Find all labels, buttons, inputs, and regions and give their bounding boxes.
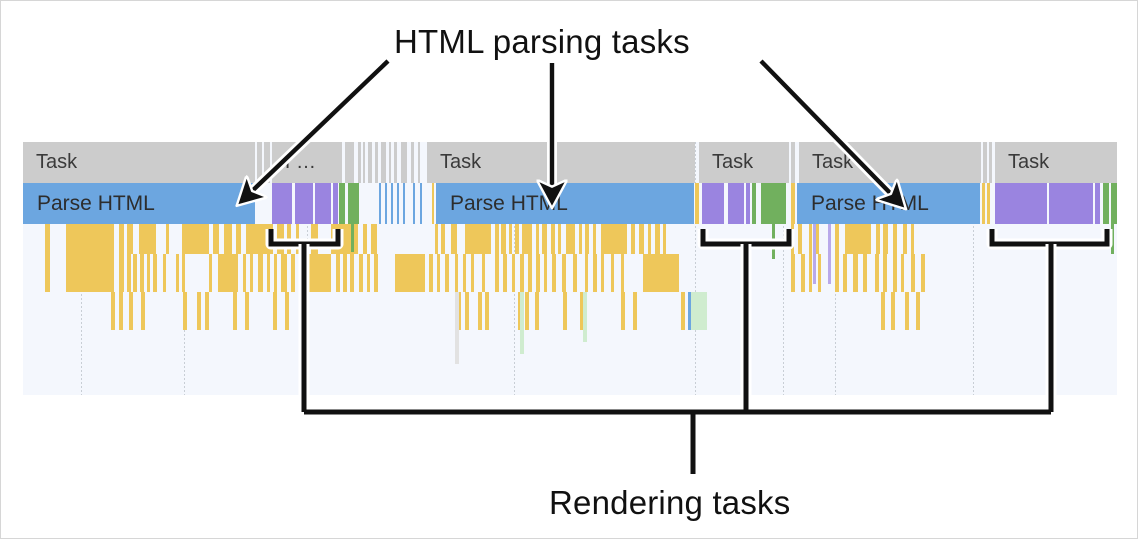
parse-html-3-label: Parse HTML (797, 192, 929, 216)
rendering-cluster-1c[interactable] (315, 183, 331, 224)
script-lane-2-bar-14[interactable] (250, 254, 253, 292)
script-lane-3-bar-24[interactable] (881, 292, 885, 330)
script-lane-1-bar-24[interactable] (509, 224, 512, 254)
script-lane-2-bar-55[interactable] (835, 254, 839, 292)
task-5[interactable]: Task (799, 142, 981, 183)
parse-html-row[interactable]: Parse HTMLParse HTMLParse HTML (23, 183, 1117, 224)
script-lane-3-bar-25[interactable] (891, 292, 895, 330)
script-tick-1[interactable] (432, 183, 434, 224)
rendering-cluster-1b[interactable] (295, 183, 313, 224)
script-lane-2-bar-12[interactable] (218, 254, 238, 292)
task-gap-d[interactable] (358, 142, 361, 183)
task-gap-i[interactable] (389, 142, 391, 183)
script-lane-1-bar-35[interactable] (601, 224, 627, 254)
script-lane-2-bar-48[interactable] (611, 254, 614, 292)
paint-sliver-a (520, 292, 524, 354)
script-lane-2-bar-41[interactable] (544, 254, 547, 292)
script-lane-1-bar-38[interactable] (648, 224, 651, 254)
script-lane-1-bar-10[interactable] (246, 224, 273, 254)
task-gap-e[interactable] (363, 142, 365, 183)
script-lane-3-bar-14[interactable] (485, 292, 489, 330)
script-lane-2-bar-42[interactable] (552, 254, 556, 292)
script-lane-3-bar-10[interactable] (285, 292, 289, 330)
script-lane-3-bar-26[interactable] (905, 292, 909, 330)
task-3-label: Task (427, 151, 481, 174)
script-lane-2-bar-21[interactable] (336, 254, 340, 292)
script-lane-1-bar-19[interactable] (441, 224, 445, 254)
script-lane-2-bar-58[interactable] (863, 254, 867, 292)
script-lane-2-bar-51[interactable] (791, 254, 795, 292)
performance-timeline-panel[interactable]: TaskΓ…TaskTaskTaskTask Parse HTMLParse H… (23, 142, 1117, 395)
script-lane-1-bar-3[interactable] (127, 224, 133, 254)
script-lane-1[interactable] (23, 224, 1117, 254)
painting-cluster-1a[interactable] (339, 183, 345, 224)
script-lane-2-bar-32[interactable] (463, 254, 466, 292)
idle-blue-3[interactable] (391, 183, 393, 224)
script-lane-2-bar-40[interactable] (536, 254, 540, 292)
script-lane-2-bar-25[interactable] (367, 254, 370, 292)
script-lane-2-bar-6[interactable] (147, 254, 150, 292)
script-lane-3-bar-1[interactable] (119, 292, 123, 330)
script-lane-1-bar-34[interactable] (593, 224, 596, 254)
screenshot-root: HTML parsing tasks Rendering tasks TaskΓ… (0, 0, 1138, 539)
script-lane-1-bar-50[interactable] (903, 224, 907, 254)
task-gap-p[interactable] (989, 142, 992, 183)
task-gap-b[interactable] (264, 142, 270, 183)
rendering-cluster-2a[interactable] (702, 183, 724, 224)
rendering-cluster-3a[interactable] (995, 183, 1047, 224)
parse-html-3[interactable]: Parse HTML (797, 183, 980, 224)
script-lane-2-bar-63[interactable] (911, 254, 915, 292)
script-lane-2-bar-52[interactable] (801, 254, 805, 292)
script-lane-2-bar-35[interactable] (495, 254, 499, 292)
script-lane-2-bar-11[interactable] (209, 254, 212, 292)
script-lane-3-bar-5[interactable] (197, 292, 201, 330)
painting-cluster-1b[interactable] (348, 183, 359, 224)
script-lane-2-bar-33[interactable] (471, 254, 474, 292)
idle-blue-6[interactable] (413, 183, 415, 224)
task-gap-a[interactable] (257, 142, 262, 183)
script-lane-2-bar-60[interactable] (883, 254, 887, 292)
script-lane-3-bar-12[interactable] (465, 292, 469, 330)
task-1-label: Task (23, 151, 77, 174)
script-lane-1-bar-8[interactable] (224, 224, 232, 254)
script-lane-2-bar-2[interactable] (119, 254, 124, 292)
script-lane-1-bar-31[interactable] (566, 224, 575, 254)
script-lane-2-bar-7[interactable] (153, 254, 157, 292)
task-gap-k[interactable] (401, 142, 407, 183)
script-lane-1-bar-18[interactable] (435, 224, 438, 254)
script-lane-3-bar-3[interactable] (141, 292, 145, 330)
script-lane-1-bar-22[interactable] (495, 224, 499, 254)
script-lane-2-bar-22[interactable] (343, 254, 347, 292)
script-lane-3-bar-4[interactable] (183, 292, 187, 330)
script-lane-2-bar-34[interactable] (482, 254, 485, 292)
script-lane-3-bar-9[interactable] (273, 292, 277, 330)
script-lane-1-bar-27[interactable] (536, 224, 539, 254)
gray-sliver-a (455, 292, 459, 364)
script-lane-1-bar-26[interactable] (522, 224, 532, 254)
script-lane-2-bar-28[interactable] (429, 254, 433, 292)
script-lane-2-bar-38[interactable] (520, 254, 524, 292)
script-lane-2-bar-36[interactable] (503, 254, 507, 292)
script-lane-1-bar-29[interactable] (551, 224, 555, 254)
script-lane-1-bar-45[interactable] (835, 224, 839, 254)
script-lane-1-bar-23[interactable] (501, 224, 506, 254)
script-lane-1-bar-32[interactable] (579, 224, 582, 254)
script-lane-2-bar-59[interactable] (875, 254, 879, 292)
script-tick-2[interactable] (695, 183, 699, 224)
script-lane-1-bar-12[interactable] (287, 224, 291, 254)
paint-tick-c (1111, 224, 1114, 254)
script-lane-1-bar-2[interactable] (119, 224, 124, 254)
blue-sliver-a (688, 292, 691, 330)
script-lane-1-bar-40[interactable] (663, 224, 666, 254)
parse-html-1-label: Parse HTML (23, 192, 155, 216)
script-lane-2-bar-43[interactable] (562, 254, 566, 292)
script-lane-2-bar-50[interactable] (643, 254, 679, 292)
parse-html-1[interactable]: Parse HTML (23, 183, 255, 224)
script-lane-1-bar-33[interactable] (585, 224, 589, 254)
script-lane-1-bar-43[interactable] (809, 224, 812, 254)
script-lane-1-bar-6[interactable] (182, 224, 209, 254)
script-lane-2-bar-16[interactable] (267, 254, 270, 292)
script-lane-2-bar-47[interactable] (601, 254, 604, 292)
rendering-cluster-3c[interactable] (1095, 183, 1100, 224)
script-lane-2-bar-31[interactable] (455, 254, 458, 292)
script-lane-1-bar-13[interactable] (296, 224, 299, 254)
script-lane-2-bar-61[interactable] (893, 254, 897, 292)
script-lane-2-bar-23[interactable] (350, 254, 354, 292)
script-lane-1-bar-25[interactable] (515, 224, 519, 254)
script-lane-1-bar-14[interactable] (311, 224, 318, 254)
script-lane-1-bar-47[interactable] (876, 224, 880, 254)
task-2-label: Γ… (272, 151, 316, 174)
script-lane-1-bar-11[interactable] (277, 224, 284, 254)
script-lane-2-bar-56[interactable] (843, 254, 847, 292)
script-lane-1-bar-46[interactable] (845, 224, 871, 254)
script-lane-3-bar-7[interactable] (233, 292, 237, 330)
script-lane-1-bar-36[interactable] (631, 224, 635, 254)
script-lane-3[interactable] (23, 292, 1117, 330)
rendering-cluster-1a[interactable] (272, 183, 292, 224)
task-gap-h[interactable] (381, 142, 386, 183)
task-2[interactable]: Γ… (272, 142, 342, 183)
task-4-label: Task (699, 151, 753, 174)
script-lane-3-bar-8[interactable] (245, 292, 249, 330)
script-lane-2-bar-0[interactable] (45, 254, 50, 292)
script-lane-3-bar-21[interactable] (633, 292, 637, 330)
script-lane-1-bar-17[interactable] (371, 224, 377, 254)
script-lane-1-bar-20[interactable] (451, 224, 457, 254)
script-lane-3-bar-2[interactable] (129, 292, 133, 330)
script-lane-3-bar-22[interactable] (681, 292, 685, 330)
script-lane-2-bar-15[interactable] (258, 254, 263, 292)
task-6[interactable]: Task (995, 142, 1117, 183)
painting-cluster-2a[interactable] (752, 183, 756, 224)
painting-cluster-3a[interactable] (1103, 183, 1109, 224)
script-lane-2-bar-20[interactable] (301, 254, 331, 292)
task-6-label: Task (995, 151, 1049, 174)
script-tick-4[interactable] (982, 183, 985, 224)
script-lane-1-bar-21[interactable] (465, 224, 491, 254)
task-gap-m[interactable] (418, 142, 420, 183)
script-lane-1-bar-5[interactable] (166, 224, 169, 254)
rendering-cluster-1d[interactable] (333, 183, 338, 224)
painting-cluster-3b[interactable] (1111, 183, 1117, 224)
idle-blue-5[interactable] (403, 183, 405, 224)
script-lane-1-bar-4[interactable] (139, 224, 156, 254)
script-lane-2-bar-5[interactable] (140, 254, 144, 292)
script-lane-1-bar-30[interactable] (558, 224, 561, 254)
script-lane-2-bar-49[interactable] (621, 254, 624, 292)
task-gap-j[interactable] (394, 142, 397, 183)
task-gap-n[interactable] (791, 142, 795, 183)
script-lane-2-bar-19[interactable] (291, 254, 295, 292)
script-tick-3[interactable] (791, 183, 795, 224)
script-lane-2[interactable] (23, 254, 1117, 292)
script-lane-2-bar-30[interactable] (445, 254, 449, 292)
script-lane-3-bar-20[interactable] (621, 292, 625, 330)
script-lane-2-bar-18[interactable] (281, 254, 287, 292)
script-lane-2-bar-24[interactable] (359, 254, 363, 292)
rendering-tasks-trunk (304, 412, 1051, 474)
script-lane-2-bar-39[interactable] (528, 254, 532, 292)
script-lane-1-bar-51[interactable] (911, 224, 914, 254)
task-gap-f[interactable] (368, 142, 372, 183)
script-lane-2-bar-17[interactable] (274, 254, 277, 292)
paint-sliver-b (583, 292, 587, 342)
task-gap-g[interactable] (375, 142, 378, 183)
script-lane-2-bar-13[interactable] (243, 254, 246, 292)
script-lane-3-bar-6[interactable] (205, 292, 209, 330)
script-lane-2-bar-3[interactable] (127, 254, 131, 292)
task-row[interactable]: TaskΓ…TaskTaskTaskTask (23, 142, 1117, 183)
rendering-tick-a (813, 224, 816, 284)
script-lane-2-bar-9[interactable] (176, 254, 179, 292)
script-lane-3-bar-17[interactable] (535, 292, 539, 330)
task-3[interactable]: Task (427, 142, 695, 183)
task-gap-l[interactable] (411, 142, 414, 183)
rendering-cluster-2c[interactable] (746, 183, 750, 224)
script-lane-1-bar-41[interactable] (791, 224, 794, 254)
task-gap-c[interactable] (345, 142, 354, 183)
idle-blue-2[interactable] (385, 183, 387, 224)
script-lane-3-bar-0[interactable] (111, 292, 115, 330)
script-lane-2-bar-57[interactable] (853, 254, 858, 292)
script-lane-1-bar-42[interactable] (798, 224, 802, 254)
script-lane-1-bar-1[interactable] (66, 224, 114, 254)
script-lane-1-bar-16[interactable] (363, 224, 367, 254)
script-lane-3-bar-16[interactable] (525, 292, 529, 330)
script-lane-2-bar-26[interactable] (374, 254, 378, 292)
idle-blue-4[interactable] (397, 183, 399, 224)
script-lane-2-bar-53[interactable] (809, 254, 812, 292)
parse-html-2[interactable]: Parse HTML (436, 183, 694, 224)
script-lane-1-bar-48[interactable] (883, 224, 888, 254)
script-lane-2-bar-1[interactable] (66, 254, 114, 292)
rendering-cluster-2b[interactable] (728, 183, 744, 224)
script-lane-2-bar-64[interactable] (921, 254, 925, 292)
script-lane-2-bar-10[interactable] (182, 254, 185, 292)
paint-tick-b (772, 224, 775, 259)
rendering-tick-b (828, 224, 831, 284)
script-lane-1-bar-0[interactable] (45, 224, 50, 254)
script-lane-3-bar-18[interactable] (563, 292, 567, 330)
script-lane-2-bar-46[interactable] (593, 254, 597, 292)
task-4[interactable]: Task (699, 142, 789, 183)
script-lane-1-bar-28[interactable] (542, 224, 547, 254)
paint-tick-a (351, 224, 354, 252)
script-lane-1-bar-37[interactable] (639, 224, 644, 254)
script-lane-2-bar-29[interactable] (437, 254, 440, 292)
script-lane-2-bar-37[interactable] (512, 254, 515, 292)
script-lane-1-bar-44[interactable] (816, 224, 819, 254)
script-lane-3-bar-27[interactable] (916, 292, 920, 330)
paint-block-a (691, 292, 707, 330)
rendering-tasks-label: Rendering tasks (549, 484, 790, 522)
script-lane-2-bar-62[interactable] (901, 254, 904, 292)
script-lane-2-bar-27[interactable] (395, 254, 425, 292)
html-parsing-tasks-label: HTML parsing tasks (394, 23, 690, 61)
painting-cluster-2b[interactable] (761, 183, 786, 224)
idle-blue-7[interactable] (420, 183, 422, 224)
parse-html-2-label: Parse HTML (436, 192, 568, 216)
script-lane-2-bar-44[interactable] (573, 254, 577, 292)
task-gap-o[interactable] (983, 142, 987, 183)
script-tick-5[interactable] (987, 183, 990, 224)
script-lane-1-bar-39[interactable] (655, 224, 660, 254)
task-1[interactable]: Task (23, 142, 255, 183)
script-lane-1-bar-49[interactable] (893, 224, 897, 254)
rendering-cluster-3b[interactable] (1049, 183, 1093, 224)
idle-blue-1[interactable] (379, 183, 381, 224)
script-lane-1-bar-9[interactable] (236, 224, 241, 254)
task-5-label: Task (799, 151, 853, 174)
script-lane-2-bar-54[interactable] (818, 254, 821, 292)
script-lane-2-bar-8[interactable] (163, 254, 166, 292)
script-lane-3-bar-13[interactable] (478, 292, 482, 330)
script-lane-2-bar-45[interactable] (585, 254, 588, 292)
script-lane-2-bar-4[interactable] (133, 254, 137, 292)
script-lane-1-bar-7[interactable] (213, 224, 219, 254)
